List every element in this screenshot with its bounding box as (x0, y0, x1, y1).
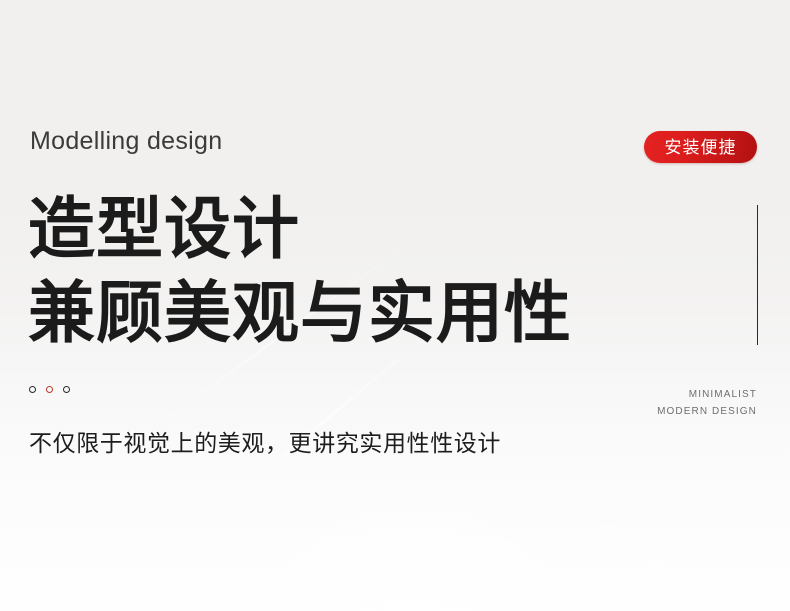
background-glow (180, 455, 650, 611)
dot-red-middle (46, 386, 53, 393)
status-badge: 安装便捷 (644, 131, 757, 163)
dot-dark-right (63, 386, 70, 393)
eyebrow-label: Modelling design (30, 127, 222, 156)
dot-decoration (29, 386, 70, 393)
caption-line-1: MINIMALIST (657, 386, 757, 403)
subtitle-text: 不仅限于视觉上的美观，更讲究实用性性设计 (29, 424, 501, 458)
dot-dark-left (29, 386, 36, 393)
headline-block: 造型设计 兼顾美观与实用性 (28, 188, 668, 356)
headline-line-1: 造型设计 (28, 188, 668, 272)
status-badge-label: 安装便捷 (665, 139, 737, 156)
headline-line-2: 兼顾美观与实用性 (28, 272, 668, 356)
promo-banner: Modelling design 安装便捷 造型设计 兼顾美观与实用性 不仅限于… (0, 0, 790, 611)
caption-line-2: MODERN DESIGN (657, 403, 757, 420)
background-streak-3 (559, 500, 776, 611)
background-streak-4 (330, 502, 722, 587)
vertical-divider (757, 205, 758, 345)
caption-block: MINIMALIST MODERN DESIGN (657, 386, 757, 420)
